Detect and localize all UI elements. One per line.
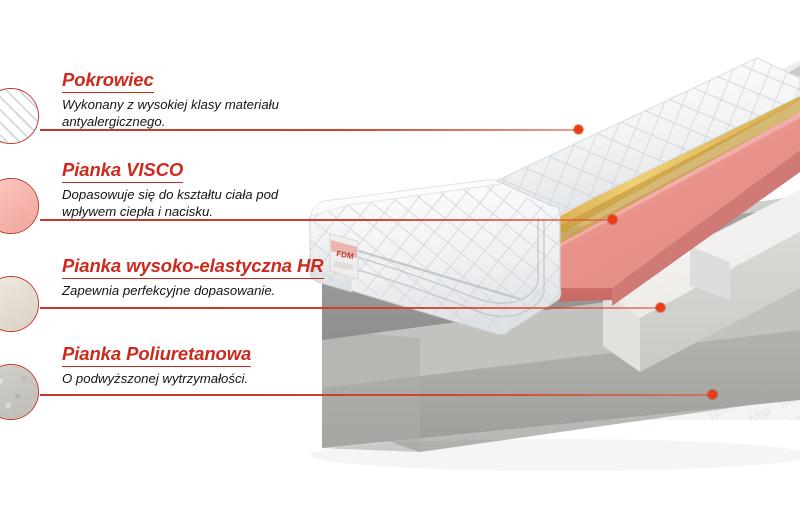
- quilted-cover-layer: [440, 30, 800, 260]
- swatch-hr-foam: [0, 276, 39, 332]
- felt-interlayer-strip: [502, 60, 800, 232]
- ground-shadow: [310, 439, 800, 471]
- leader-line-pianka-visco: [40, 219, 612, 221]
- callout-description-pianka-visco: Dopasowuje się do kształtu ciała pod wpł…: [62, 187, 278, 221]
- cover-zipper: [349, 248, 520, 302]
- leader-dot-pianka-visco: [608, 215, 617, 224]
- leader-line-pokrowiec: [40, 129, 578, 131]
- callout-headline-pianka-hr: Pianka wysoko-elastyczna HR: [62, 256, 324, 279]
- quilted-cover-corner-cap: [311, 180, 500, 216]
- callout-headline-pokrowiec: Pokrowiec: [62, 70, 154, 93]
- fdm-brand-tag: FDM: [330, 234, 358, 279]
- swatch-polyurethane-foam: [0, 364, 39, 420]
- hr-foam-layer: [603, 190, 800, 372]
- mattress-core-grey-block: [322, 196, 800, 340]
- cover-piping-seams: [351, 218, 544, 317]
- quilted-cover-front-face: [330, 170, 580, 350]
- leader-line-pianka-hr: [40, 307, 660, 309]
- leader-line-pianka-poliuretanowa: [40, 394, 712, 396]
- gold-trim-strip: [514, 78, 800, 256]
- callout-headline-pianka-poliuretanowa: Pianka Poliuretanowa: [62, 344, 251, 367]
- callout-headline-pianka-visco: Pianka VISCO: [62, 160, 183, 183]
- leader-dot-pianka-poliuretanowa: [708, 390, 717, 399]
- swatch-visco-foam: [0, 178, 39, 234]
- callout-description-pianka-poliuretanowa: O podwyższonej wytrzymałości.: [62, 371, 251, 388]
- leader-dot-pianka-hr: [656, 303, 665, 312]
- hr-foam-block-secondary: [690, 190, 800, 300]
- visco-foam-layer: [540, 112, 800, 306]
- callout-description-pokrowiec: Wykonany z wysokiej klasy materiału anty…: [62, 97, 279, 131]
- polyurethane-foam-layer: [322, 272, 800, 452]
- infographic-canvas: fdm: [0, 0, 800, 513]
- leader-dot-pokrowiec: [574, 125, 583, 134]
- callout-description-pianka-hr: Zapewnia perfekcyjne dopasowanie.: [62, 283, 324, 300]
- swatch-quilted-cover: [0, 88, 39, 144]
- fdm-tag-text: FDM: [336, 249, 355, 261]
